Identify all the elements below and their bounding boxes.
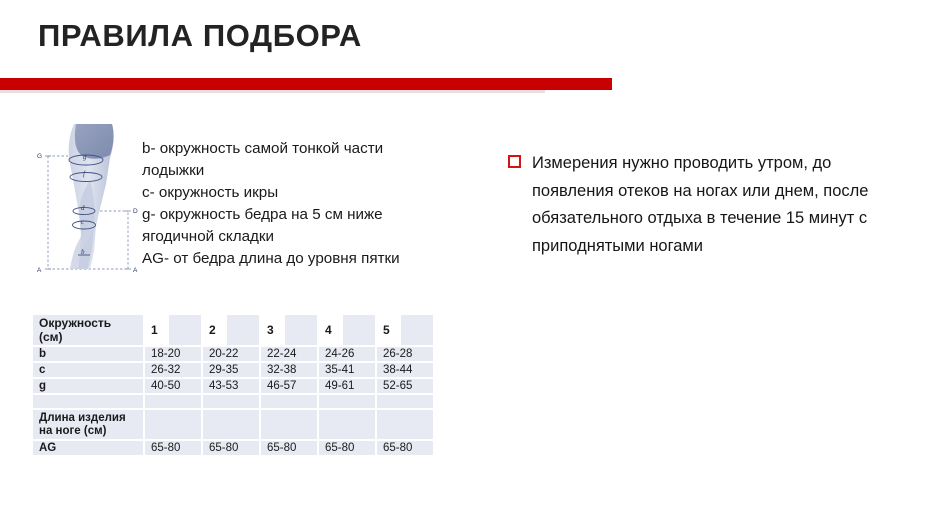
svg-text:g: g bbox=[83, 153, 87, 161]
length-header-cell-5 bbox=[377, 410, 435, 441]
cell-c-4: 35-41 bbox=[319, 363, 377, 379]
svg-text:b: b bbox=[81, 248, 85, 256]
table-header-cell-2: 2 bbox=[203, 315, 261, 347]
table-header-row: Окружность (см) 1 2 3 4 5 bbox=[33, 315, 435, 347]
cell-g-1: 40-50 bbox=[145, 379, 203, 395]
slide-root: ПРАВИЛА ПОДБОРА bbox=[0, 0, 928, 505]
table-spacer-row bbox=[33, 395, 435, 410]
legend-line-b: b- окружность самой тонкой части лодыжки bbox=[142, 138, 442, 182]
spacer-label bbox=[33, 395, 145, 410]
length-header-cell-2 bbox=[203, 410, 261, 441]
svg-text:D: D bbox=[133, 208, 138, 215]
length-section-label-line2: на ноге (см) bbox=[39, 425, 106, 437]
table-section-header-row: Длина изделия на ноге (см) bbox=[33, 410, 435, 441]
spacer-cell-5 bbox=[377, 395, 435, 410]
cell-c-5: 38-44 bbox=[377, 363, 435, 379]
legend-line-g: g- окружность бедра на 5 см ниже ягодичн… bbox=[142, 204, 442, 248]
cell-b-4: 24-26 bbox=[319, 347, 377, 363]
spacer-cell-4 bbox=[319, 395, 377, 410]
svg-text:d: d bbox=[81, 204, 85, 212]
cell-ag-1: 65-80 bbox=[145, 441, 203, 457]
legend-text: b- окружность самой тонкой части лодыжки… bbox=[142, 138, 442, 270]
title-accent-bar-shadow bbox=[0, 90, 545, 93]
row-label-c: c bbox=[33, 363, 145, 379]
length-header-cell-3 bbox=[261, 410, 319, 441]
red-square-bullet-icon bbox=[508, 155, 521, 168]
cell-c-1: 26-32 bbox=[145, 363, 203, 379]
row-label-b: b bbox=[33, 347, 145, 363]
cell-b-3: 22-24 bbox=[261, 347, 319, 363]
table-header-cell-3: 3 bbox=[261, 315, 319, 347]
cell-c-3: 32-38 bbox=[261, 363, 319, 379]
spacer-cell-1 bbox=[145, 395, 203, 410]
cell-g-5: 52-65 bbox=[377, 379, 435, 395]
leg-silhouette bbox=[69, 124, 114, 269]
svg-text:A: A bbox=[133, 267, 138, 274]
table-row: g 40-50 43-53 46-57 49-61 52-65 bbox=[33, 379, 435, 395]
cell-ag-2: 65-80 bbox=[203, 441, 261, 457]
table-header-cell-measure: Окружность (см) bbox=[33, 315, 145, 347]
measurement-advice-text: Измерения нужно проводить утром, до появ… bbox=[508, 150, 906, 260]
table-row: b 18-20 20-22 22-24 24-26 26-28 bbox=[33, 347, 435, 363]
spacer-cell-2 bbox=[203, 395, 261, 410]
length-section-label: Длина изделия на ноге (см) bbox=[33, 410, 145, 441]
legend-line-ag: AG- от бедра длина до уровня пятки bbox=[142, 248, 442, 270]
title-accent-bar bbox=[0, 78, 612, 90]
leg-measurement-diagram: g f d c b G A A D bbox=[34, 122, 144, 294]
length-header-cell-1 bbox=[145, 410, 203, 441]
row-label-g: g bbox=[33, 379, 145, 395]
cell-ag-3: 65-80 bbox=[261, 441, 319, 457]
length-section-label-line1: Длина изделия bbox=[39, 412, 126, 424]
table-row: AG 65-80 65-80 65-80 65-80 65-80 bbox=[33, 441, 435, 457]
table-header-cell-1: 1 bbox=[145, 315, 203, 347]
cell-b-1: 18-20 bbox=[145, 347, 203, 363]
cell-g-2: 43-53 bbox=[203, 379, 261, 395]
legend-line-c: c- окружность икры bbox=[142, 182, 442, 204]
cell-ag-4: 65-80 bbox=[319, 441, 377, 457]
cell-g-3: 46-57 bbox=[261, 379, 319, 395]
table-header-cell-5: 5 bbox=[377, 315, 435, 347]
size-chart-table: Окружность (см) 1 2 3 4 5 b 18-20 20-22 … bbox=[33, 315, 435, 457]
svg-text:G: G bbox=[37, 153, 42, 160]
cell-b-5: 26-28 bbox=[377, 347, 435, 363]
table-header-cell-4: 4 bbox=[319, 315, 377, 347]
length-header-cell-4 bbox=[319, 410, 377, 441]
cell-g-4: 49-61 bbox=[319, 379, 377, 395]
spacer-cell-3 bbox=[261, 395, 319, 410]
cell-b-2: 20-22 bbox=[203, 347, 261, 363]
svg-text:A: A bbox=[37, 267, 42, 274]
row-label-ag: AG bbox=[33, 441, 145, 457]
cell-ag-5: 65-80 bbox=[377, 441, 435, 457]
measurement-advice-block: Измерения нужно проводить утром, до появ… bbox=[508, 150, 906, 260]
table-row: c 26-32 29-35 32-38 35-41 38-44 bbox=[33, 363, 435, 379]
cell-c-2: 29-35 bbox=[203, 363, 261, 379]
page-title: ПРАВИЛА ПОДБОРА bbox=[38, 18, 362, 54]
